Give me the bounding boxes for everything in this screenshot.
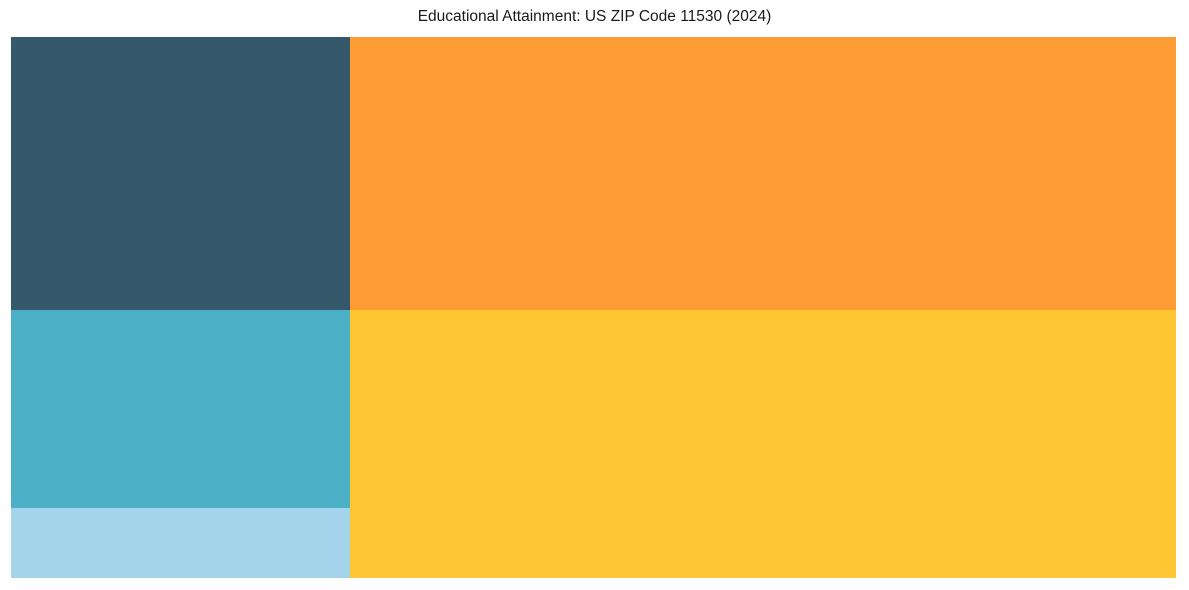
- treemap-plot-area: [11, 37, 1176, 578]
- treemap-tile-3[interactable]: [11, 37, 350, 310]
- treemap-tile-2[interactable]: [350, 310, 1176, 578]
- treemap-tile-1[interactable]: [350, 37, 1176, 310]
- chart-title: Educational Attainment: US ZIP Code 1153…: [0, 7, 1189, 27]
- treemap-figure: Educational Attainment: US ZIP Code 1153…: [0, 0, 1189, 590]
- treemap-tile-4[interactable]: [11, 310, 350, 508]
- treemap-tile-5[interactable]: [11, 508, 350, 578]
